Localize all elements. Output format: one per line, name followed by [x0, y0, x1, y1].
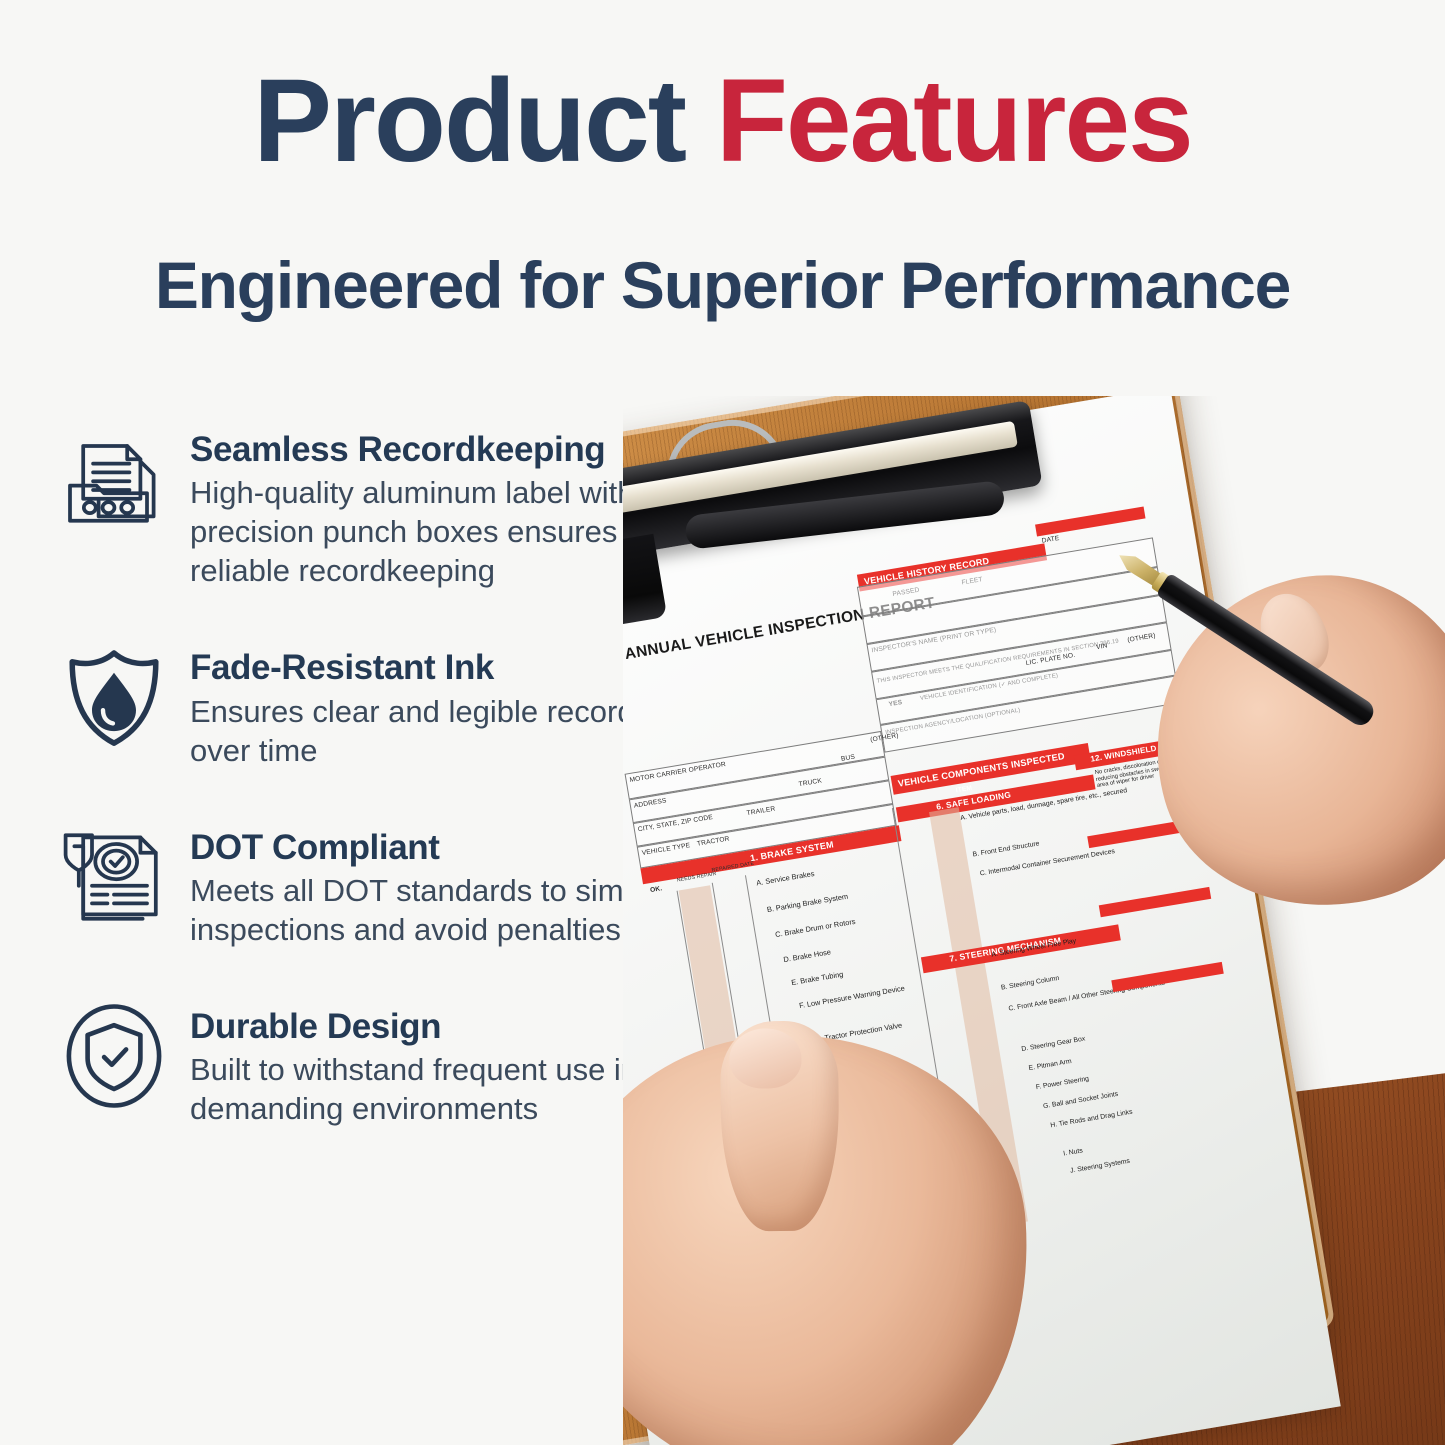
product-photo: BUCK U.S. ANNUAL VEHICLE INSPECTION REPO…: [623, 396, 1445, 1445]
feature-title: Durable Design: [190, 1007, 690, 1046]
steering-item: J. Steering Systems: [1070, 1158, 1131, 1176]
steering-item: I. Nuts: [1063, 1147, 1084, 1158]
feature-title: Fade-Resistant Ink: [190, 648, 690, 687]
document-box-icon: [48, 418, 180, 550]
clip-foot: [623, 534, 667, 642]
steering-item: B. Steering Column: [1001, 975, 1060, 992]
page-subtitle: Engineered for Superior Performance: [0, 252, 1445, 318]
brake-item: D. Brake Hose: [783, 948, 832, 964]
feature-description: Built to withstand frequent use in deman…: [190, 1050, 690, 1128]
document-check-shield-icon: [48, 816, 180, 948]
circle-shield-check-icon: [48, 995, 180, 1127]
item-col-header: ITEM: [955, 785, 972, 795]
section-band-15: [1099, 887, 1211, 917]
page-title: Product Features: [0, 62, 1445, 180]
steering-item: H. Tie Rods and Drag Links: [1050, 1109, 1133, 1130]
brake-item: B. Parking Brake System: [766, 893, 848, 915]
page-title-part2: Features: [716, 55, 1192, 187]
thumbnail: [729, 1028, 802, 1089]
steering-item: D. Steering Gear Box: [1021, 1035, 1086, 1053]
shield-droplet-icon: [48, 636, 180, 768]
windshield-number: 12.: [1090, 753, 1103, 764]
date-band: [1035, 507, 1145, 537]
section-band-16: [1111, 962, 1223, 992]
safe-loading-item: B. Front End Structure: [972, 840, 1040, 859]
brake-item: A. Service Brakes: [756, 870, 815, 888]
steering-item: E. Pitman Arm: [1028, 1058, 1072, 1073]
steering-item: F. Power Steering: [1035, 1075, 1089, 1092]
ok-col-header: OK.: [650, 885, 663, 894]
brake-item: E. Brake Tubing: [791, 971, 844, 988]
feature-description: Ensures clear and legible records over t…: [190, 692, 690, 770]
steering-mechanism-number: 7.: [949, 953, 958, 964]
page-title-part1: Product: [253, 55, 685, 187]
brake-item: C. Brake Drum or Rotors: [775, 918, 857, 940]
steering-item: G. Ball and Socket Joints: [1043, 1091, 1119, 1111]
brake-item: F. Low Pressure Warning Device: [799, 985, 906, 1011]
